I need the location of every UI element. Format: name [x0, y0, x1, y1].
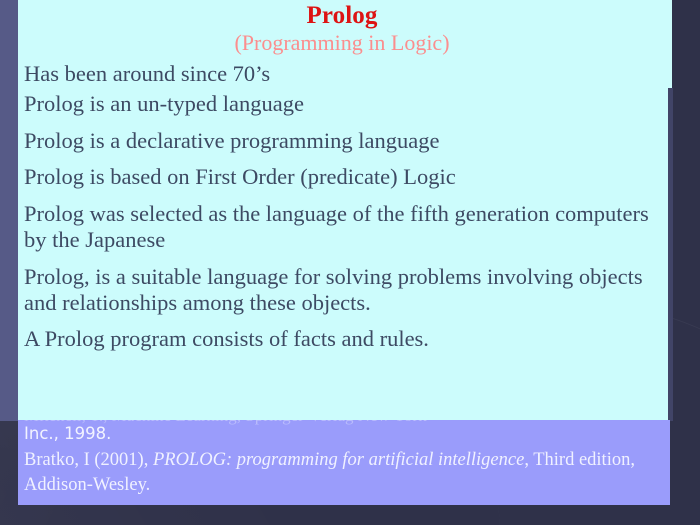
bullet-item: Prolog, is a suitable language for solvi…	[24, 264, 662, 316]
reference-line-continuation: Inc., 1998.	[24, 425, 111, 443]
slide-bullet-list: Has been around since 70’s Prolog is an …	[18, 61, 672, 352]
slide-inner: Prolog (Programming in Logic) Has been a…	[18, 0, 672, 421]
bullet-item: Prolog is based on First Order (predicat…	[24, 164, 662, 190]
reference-entry-bratko: Bratko, I (2001), PROLOG: programming fo…	[24, 448, 652, 497]
reference-author-year: Bratko, I (2001),	[24, 450, 153, 470]
reference-clipped-line: Mitchell, T., Machine Learning, Springer…	[24, 420, 664, 426]
slide-subtitle: (Programming in Logic)	[18, 31, 672, 55]
presentation-stage: Prolog (Programming in Logic) Has been a…	[0, 0, 700, 525]
reference-book-title: PROLOG: programming for artificial intel…	[153, 450, 524, 470]
slide-left-accent-band	[0, 0, 18, 421]
bullet-item: Prolog is a declarative programming lang…	[24, 128, 662, 154]
references-overlay: Mitchell, T., Machine Learning, Springer…	[18, 420, 670, 505]
slide-panel-right-step	[668, 88, 673, 421]
bullet-item: Prolog is an un-typed language	[24, 91, 662, 117]
slide-title: Prolog	[18, 2, 672, 29]
slide-content-panel: Prolog (Programming in Logic) Has been a…	[18, 0, 672, 421]
bullet-item: Prolog was selected as the language of t…	[24, 201, 662, 253]
bullet-item: Has been around since 70’s	[24, 61, 662, 87]
bullet-item: A Prolog program consists of facts and r…	[24, 326, 662, 352]
